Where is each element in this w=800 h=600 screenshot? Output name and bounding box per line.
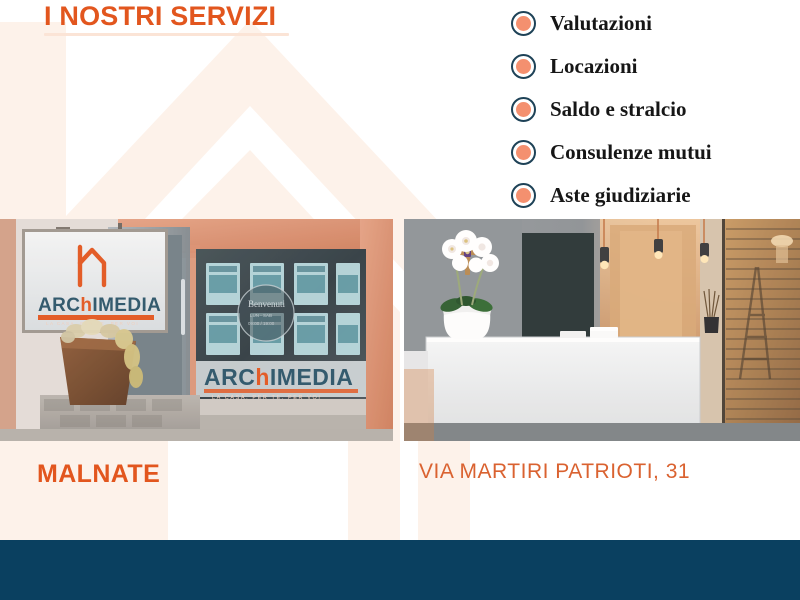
bullet-circle-icon: [511, 11, 536, 36]
reception-illustration: [404, 219, 800, 441]
caption-address: VIA MARTIRI PATRIOTI, 31: [419, 461, 690, 482]
list-item[interactable]: Consulenze mutui: [511, 131, 712, 174]
list-item[interactable]: Aste giudiziarie: [511, 174, 712, 217]
service-label: Consulenze mutui: [550, 142, 712, 163]
footer-bar: [0, 540, 800, 600]
page-title: I NOSTRI SERVIZI: [44, 2, 289, 30]
service-label: Saldo e stralcio: [550, 99, 687, 120]
service-label: Aste giudiziarie: [550, 185, 691, 206]
caption-city: MALNATE: [37, 462, 160, 487]
storefront-illustration: ARChIMEDIA LA CASA, PER TE, PER VOI: [0, 219, 393, 441]
bullet-circle-icon: [511, 54, 536, 79]
photo-storefront: ARChIMEDIA LA CASA, PER TE, PER VOI: [0, 219, 393, 441]
list-item[interactable]: Valutazioni: [511, 2, 712, 45]
bullet-circle-icon: [511, 183, 536, 208]
bullet-circle-icon: [511, 97, 536, 122]
bullet-circle-icon: [511, 140, 536, 165]
list-item[interactable]: Locazioni: [511, 45, 712, 88]
service-label: Valutazioni: [550, 13, 652, 34]
title-underline: [44, 33, 289, 36]
page-title-block: I NOSTRI SERVIZI: [44, 2, 289, 36]
list-item[interactable]: Saldo e stralcio: [511, 88, 712, 131]
service-label: Locazioni: [550, 56, 638, 77]
slide-canvas: I NOSTRI SERVIZI Valutazioni Locazioni S…: [0, 0, 800, 600]
services-list: Valutazioni Locazioni Saldo e stralcio C…: [511, 2, 712, 217]
photo-interior-reception: [404, 219, 800, 441]
